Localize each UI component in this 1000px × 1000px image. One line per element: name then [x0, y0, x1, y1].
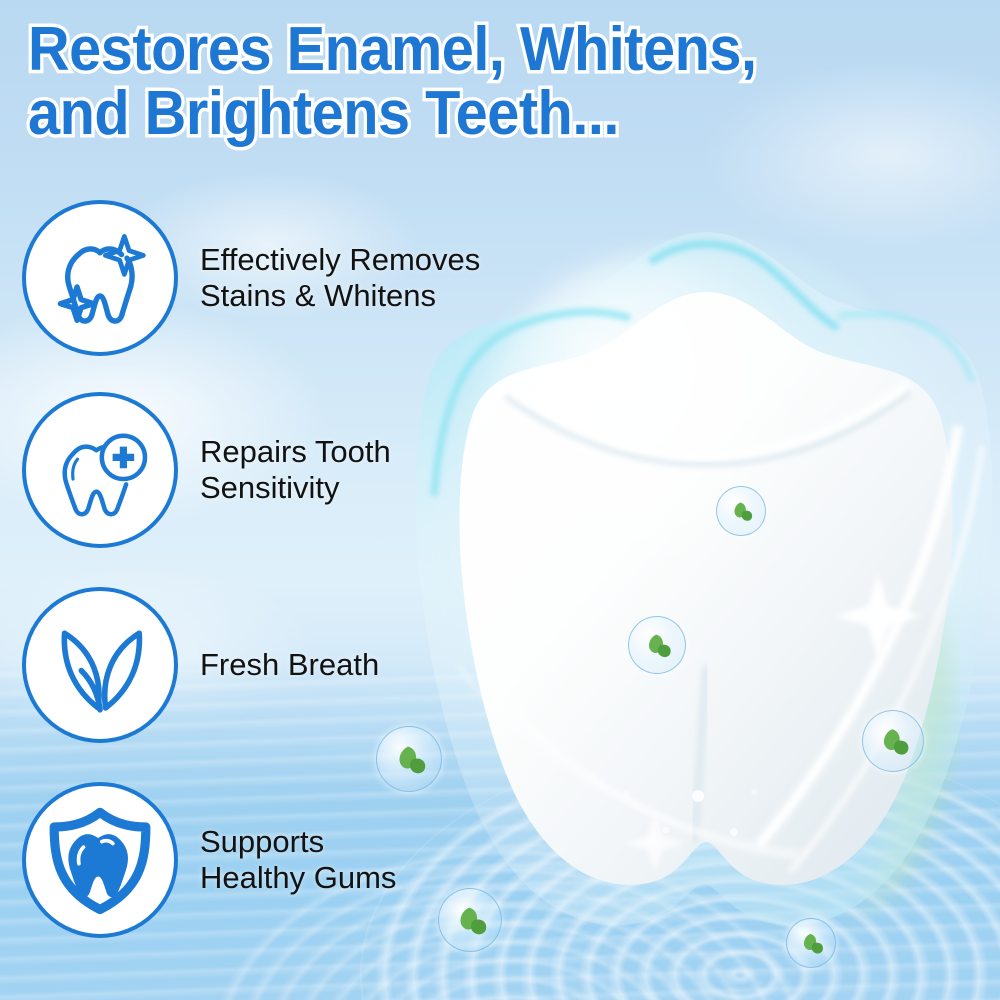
feature-item-removes-stains: Effectively Removes Stains & Whitens	[22, 200, 480, 356]
feature-item-fresh-breath: Fresh Breath	[22, 587, 379, 743]
product-feature-banner: Restores Enamel, Whitens, and Brightens …	[0, 0, 1000, 1000]
tooth-sparkle-icon	[46, 224, 154, 332]
feature-label: Supports Healthy Gums	[200, 824, 396, 896]
mint-leaf-icon	[728, 498, 754, 524]
feature-label: Effectively Removes Stains & Whitens	[200, 242, 480, 314]
feature-label: Fresh Breath	[200, 647, 379, 683]
mint-leaf-icon	[451, 901, 489, 939]
mint-leaf-bubble	[862, 710, 924, 772]
feature-icon-badge	[22, 200, 178, 356]
mint-leaf-bubble	[628, 616, 686, 674]
feature-label: Repairs Tooth Sensitivity	[200, 434, 391, 506]
feature-item-healthy-gums: Supports Healthy Gums	[22, 782, 396, 938]
shield-tooth-icon	[45, 805, 155, 915]
mint-leaf-bubble	[438, 888, 502, 952]
leaf-icon	[44, 609, 156, 721]
feature-icon-badge	[22, 587, 178, 743]
product-tooth-illustration	[398, 196, 1000, 956]
feature-icon-badge	[22, 392, 178, 548]
mint-leaf-icon	[797, 929, 825, 957]
mint-leaf-icon	[641, 629, 673, 661]
feature-item-repairs-sensitivity: Repairs Tooth Sensitivity	[22, 392, 391, 548]
feature-icon-badge	[22, 782, 178, 938]
mint-leaf-icon	[875, 723, 911, 759]
tooth-plus-icon	[46, 416, 154, 524]
mint-leaf-icon	[390, 740, 428, 778]
tooth-graphic	[398, 196, 1000, 956]
mint-leaf-bubble	[786, 918, 836, 968]
page-title: Restores Enamel, Whitens, and Brightens …	[28, 18, 791, 146]
mint-leaf-bubble	[716, 486, 766, 536]
